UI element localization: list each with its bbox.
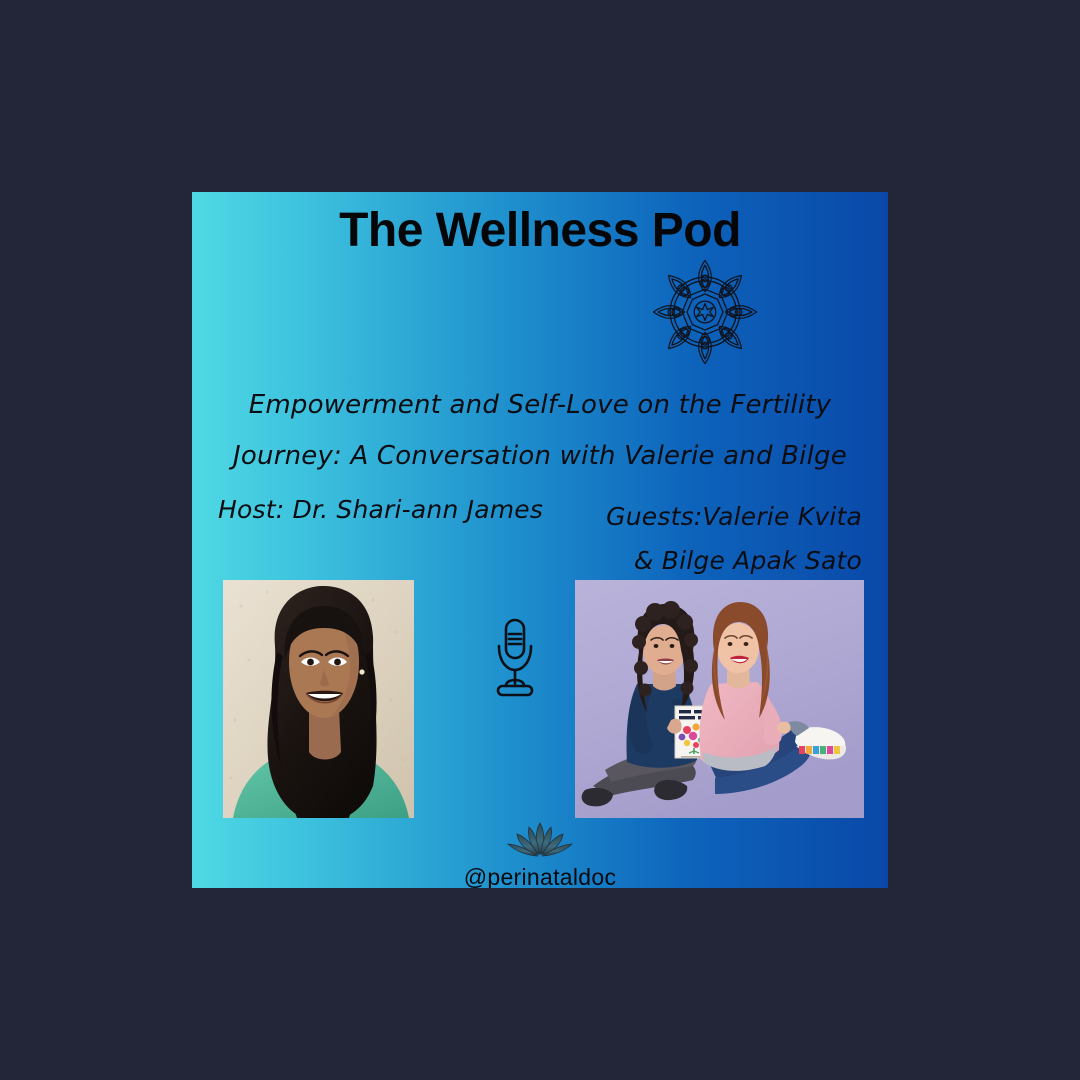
host-photo	[223, 580, 414, 818]
host-credit: Host: Dr. Shari-ann James	[218, 495, 548, 524]
episode-subtitle: Empowerment and Self-Love on the Fertili…	[218, 380, 862, 481]
microphone-icon	[490, 616, 540, 708]
episode-card: The Wellness Pod	[192, 192, 888, 888]
page-title: The Wellness Pod	[192, 206, 888, 256]
mandala-icon	[640, 252, 770, 372]
guests-photo	[575, 580, 864, 818]
social-handle: @perinataldoc	[192, 864, 888, 888]
episode-subtitle-line-1: Empowerment and Self-Love on the Fertili…	[218, 380, 862, 431]
guest-credit-line-2: & Bilge Apak Sato	[558, 539, 862, 583]
poster-canvas: The Wellness Pod	[0, 0, 1080, 1080]
guest-credit: Guests:Valerie Kvita & Bilge Apak Sato	[558, 495, 862, 583]
lotus-icon	[504, 820, 576, 860]
guest-credit-line-1: Guests:Valerie Kvita	[558, 495, 862, 539]
episode-subtitle-line-2: Journey: A Conversation with Valerie and…	[218, 431, 862, 482]
